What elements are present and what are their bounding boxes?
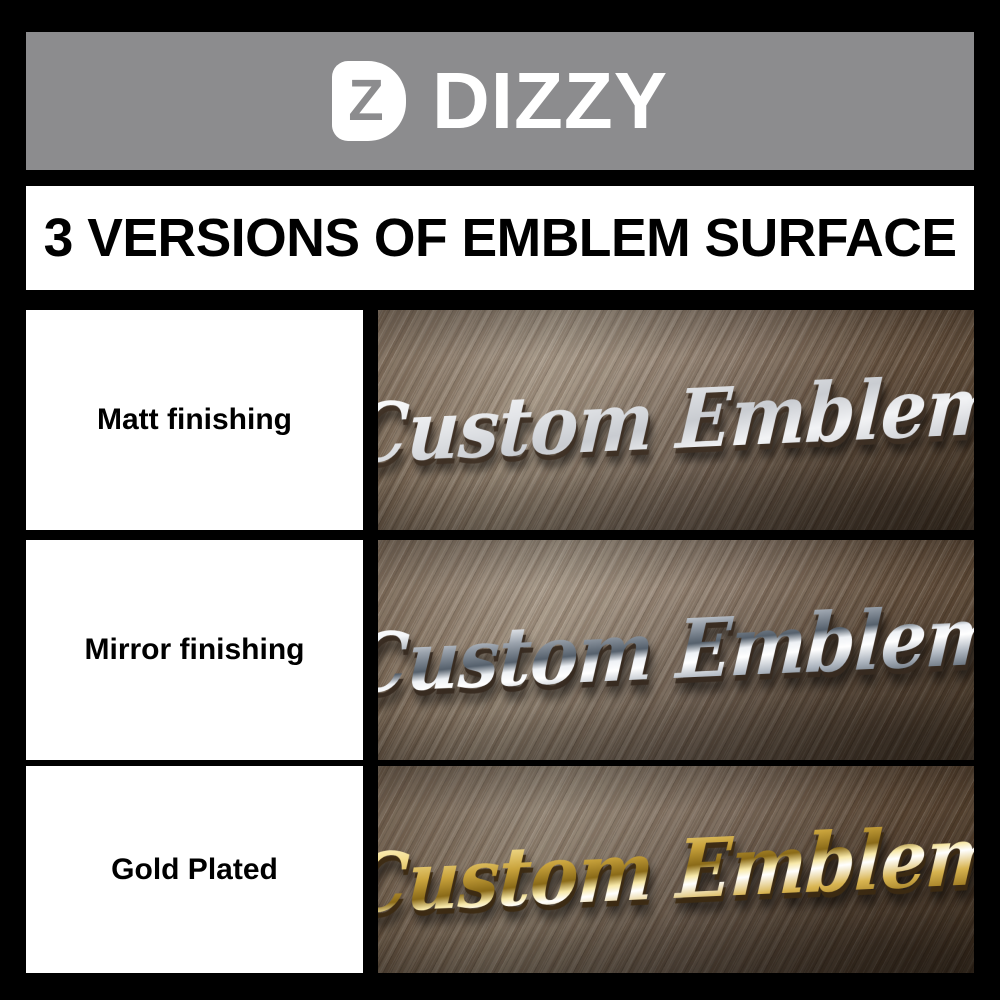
finish-row-mirror: Mirror finishing Custom Emblem	[26, 540, 974, 760]
brand-header-band: Z DIZZY	[26, 32, 974, 170]
photo-cell-mirror: Custom Emblem	[378, 540, 974, 760]
finish-row-gold: Gold Plated Custom Emblem	[26, 766, 974, 973]
emblem-photo-mirror: Custom Emblem	[378, 540, 974, 760]
emblem-script-text-gold: Custom Emblem	[378, 814, 974, 924]
emblem-photo-gold: Custom Emblem	[378, 766, 974, 973]
emblem-script-text-mirror: Custom Emblem	[378, 595, 974, 705]
emblem-photo-matt: Custom Emblem	[378, 310, 974, 530]
finish-label-gold: Gold Plated	[111, 853, 278, 887]
finish-label-matt: Matt finishing	[97, 403, 292, 437]
label-cell-matt: Matt finishing	[26, 310, 363, 530]
finish-row-matt: Matt finishing Custom Emblem	[26, 310, 974, 530]
photo-cell-matt: Custom Emblem	[378, 310, 974, 530]
title-band: 3 VERSIONS OF EMBLEM SURFACE	[26, 186, 974, 290]
photo-cell-gold: Custom Emblem	[378, 766, 974, 973]
emblem-surface-poster: Z DIZZY 3 VERSIONS OF EMBLEM SURFACE Mat…	[0, 0, 1000, 1000]
page-title: 3 VERSIONS OF EMBLEM SURFACE	[44, 207, 957, 269]
logo-z-letter: Z	[332, 61, 406, 141]
label-cell-mirror: Mirror finishing	[26, 540, 363, 760]
label-cell-gold: Gold Plated	[26, 766, 363, 973]
dizzy-d-logo-icon: Z	[332, 61, 406, 141]
brand-name: DIZZY	[432, 61, 668, 141]
emblem-script-text-matt: Custom Emblem	[378, 365, 974, 475]
finish-label-mirror: Mirror finishing	[85, 633, 305, 667]
